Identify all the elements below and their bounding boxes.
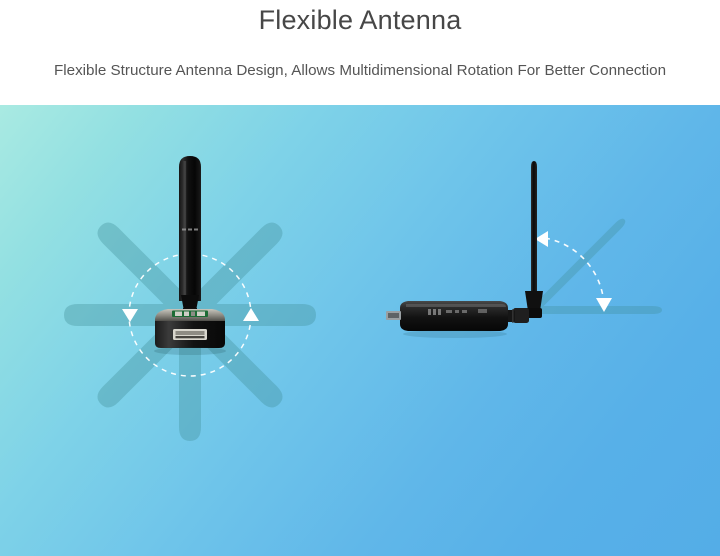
page-title: Flexible Antenna xyxy=(0,2,720,38)
left-rotation-figure xyxy=(64,156,316,441)
product-feature-image: Flexible Antenna Flexible Structure Ante… xyxy=(0,0,720,556)
base-shadow xyxy=(154,347,226,355)
antenna-illustration xyxy=(0,105,720,556)
right-bending-figure xyxy=(386,161,662,338)
header-band: Flexible Antenna Flexible Structure Ante… xyxy=(0,0,720,105)
antenna-hinge-marks xyxy=(182,229,198,231)
page-subtitle: Flexible Structure Antenna Design, Allow… xyxy=(0,60,720,82)
adapter-base-front xyxy=(155,309,225,348)
dongle-shadow xyxy=(403,330,507,338)
antenna-blade-front xyxy=(179,156,201,316)
adapter-body-side xyxy=(386,301,508,331)
hero-illustration-panel: 360° Rotation 90° Bending xyxy=(0,105,720,556)
